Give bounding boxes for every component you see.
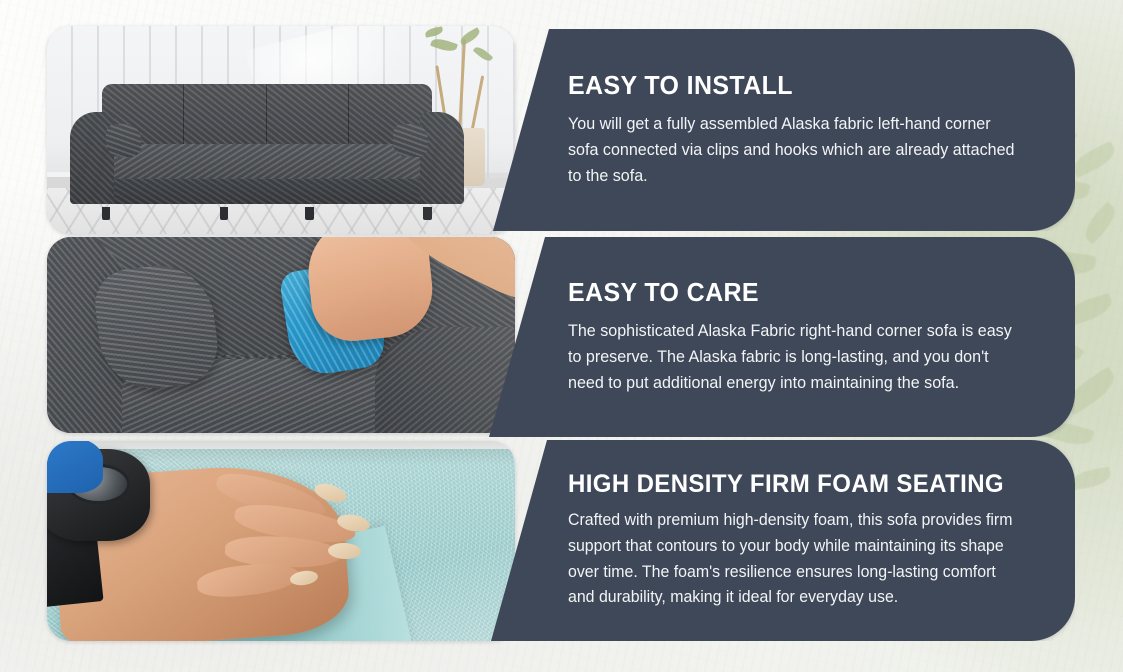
feature-item-easy-to-care: EASY TO CARE The sophisticated Alaska Fa… <box>47 237 1075 437</box>
sofa-room-photo <box>47 26 515 234</box>
feature-heading: HIGH DENSITY FIRM FOAM SEATING <box>568 470 1014 498</box>
feature-item-easy-to-install: EASY TO INSTALL You will get a fully ass… <box>47 29 1075 231</box>
feature-info-panel: HIGH DENSITY FIRM FOAM SEATING Crafted w… <box>417 440 1075 641</box>
feature-body: Crafted with premium high-density foam, … <box>568 508 1019 610</box>
foam-press-photo <box>47 441 515 641</box>
feature-info-panel: EASY TO INSTALL You will get a fully ass… <box>417 29 1075 231</box>
feature-info-panel: EASY TO CARE The sophisticated Alaska Fa… <box>417 237 1075 437</box>
cleaning-sofa-photo <box>47 237 515 433</box>
feature-heading: EASY TO CARE <box>568 278 1014 307</box>
feature-heading: EASY TO INSTALL <box>568 71 1014 100</box>
feature-item-high-density-firm-foam-seating: HIGH DENSITY FIRM FOAM SEATING Crafted w… <box>47 440 1075 641</box>
sofa-illustration <box>70 84 463 209</box>
blue-sleeve <box>47 441 103 493</box>
feature-list: EASY TO INSTALL You will get a fully ass… <box>0 0 1123 672</box>
feature-body: The sophisticated Alaska Fabric right-ha… <box>568 318 1019 396</box>
feature-body: You will get a fully assembled Alaska fa… <box>568 111 1019 189</box>
